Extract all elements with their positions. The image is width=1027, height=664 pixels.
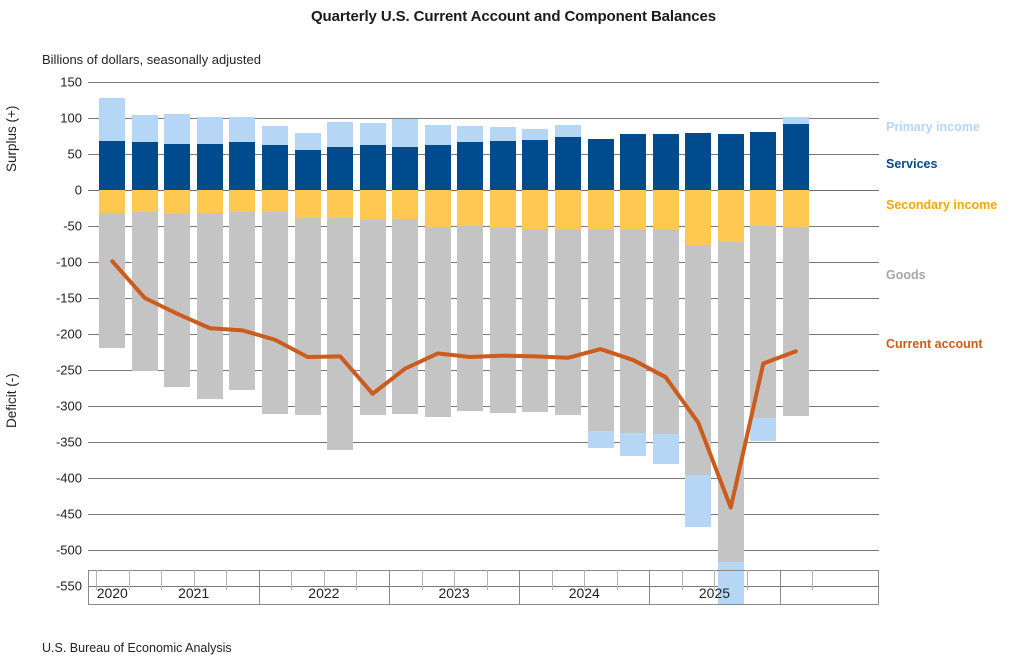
x-tick-quarter [291,570,292,590]
y-tick-label: -150 [30,291,82,306]
x-tick-year [519,570,520,604]
x-tick-quarter [552,570,553,590]
x-tick-quarter [617,570,618,590]
y-tick-label: -100 [30,255,82,270]
x-axis-line [88,570,879,571]
x-axis-year-label: 2024 [569,585,600,601]
x-tick-quarter [487,570,488,590]
x-axis-year-label: 2020 [97,585,128,601]
current-account-polyline [112,261,796,507]
y-axis-title-surplus: Surplus (+) [4,106,19,172]
x-axis-year-label: 2023 [438,585,469,601]
x-axis-left-cap [88,570,89,605]
y-tick-label: -450 [30,507,82,522]
x-tick-year [649,570,650,604]
x-axis-year-label: 2025 [699,585,730,601]
y-tick-label: -200 [30,327,82,342]
y-tick-label: -300 [30,399,82,414]
x-tick-year [259,570,260,604]
chart-container: Quarterly U.S. Current Account and Compo… [0,0,1027,664]
legend-item[interactable]: Goods [886,268,926,282]
x-tick-quarter [226,570,227,590]
x-tick-quarter [422,570,423,590]
x-tick-quarter [747,570,748,590]
legend-item[interactable]: Primary income [886,120,980,134]
y-axis-title-deficit: Deficit (-) [4,373,19,428]
current-account-line [88,0,879,664]
y-tick-label: -500 [30,543,82,558]
y-tick-label: -350 [30,435,82,450]
y-tick-label: 150 [30,75,82,90]
y-tick-label: -50 [30,219,82,234]
y-tick-label: 0 [30,183,82,198]
x-axis-right-cap [878,570,879,605]
legend-item[interactable]: Services [886,157,937,171]
legend-item[interactable]: Secondary income [886,198,997,212]
source-note: U.S. Bureau of Economic Analysis [42,641,232,655]
y-tick-label: -250 [30,363,82,378]
x-axis-year-label: 2021 [178,585,209,601]
x-axis-baseline [88,604,879,605]
x-tick-year [389,570,390,604]
legend-item[interactable]: Current account [886,337,983,351]
x-axis-year-label: 2022 [308,585,339,601]
x-tick-quarter [161,570,162,590]
y-tick-label: -400 [30,471,82,486]
x-tick-year [780,570,781,604]
y-tick-label: -550 [30,579,82,594]
x-tick-quarter [812,570,813,590]
y-tick-label: 50 [30,147,82,162]
plot-area [88,0,879,664]
y-axis-tick-labels: 150100500-50-100-150-200-250-300-350-400… [30,0,82,664]
y-tick-label: 100 [30,111,82,126]
x-tick-quarter [356,570,357,590]
x-tick-quarter [129,570,130,590]
x-tick-quarter [682,570,683,590]
